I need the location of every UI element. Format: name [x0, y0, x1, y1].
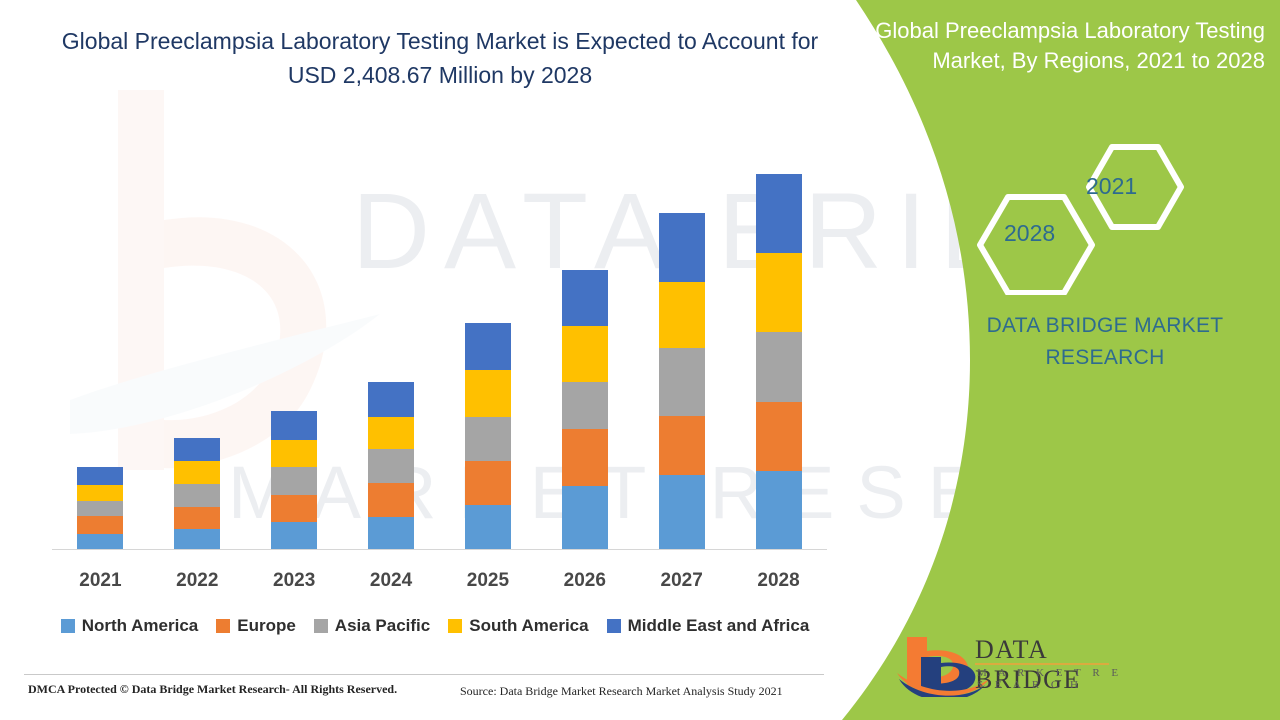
legend-label: Middle East and Africa: [628, 616, 810, 636]
bar-segment-europe: [271, 495, 317, 521]
bar-segment-middle-east-and-africa: [659, 213, 705, 281]
bar-segment-south-america: [77, 485, 123, 501]
hexagon-outlines-icon: [960, 135, 1210, 295]
bar-segment-asia-pacific: [562, 382, 608, 429]
x-axis-label-2021: 2021: [57, 570, 143, 592]
data-bridge-logo: DATA BRIDGE M A R K E T R E S E A R C H: [895, 633, 1125, 697]
bar-segment-asia-pacific: [174, 484, 220, 507]
bar-segment-middle-east-and-africa: [271, 411, 317, 439]
bar-segment-north-america: [659, 475, 705, 550]
bar-segment-europe: [465, 461, 511, 505]
stacked-bar: [756, 174, 802, 550]
legend-swatch-icon: [448, 619, 462, 633]
x-axis-label-2025: 2025: [445, 570, 531, 592]
bar-column-2028: [736, 150, 822, 550]
bar-segment-north-america: [174, 529, 220, 550]
x-axis-label-2023: 2023: [251, 570, 337, 592]
bar-segment-europe: [77, 516, 123, 534]
legend-label: North America: [82, 616, 199, 636]
panel-brand-name: DATA BRIDGE MARKET RESEARCH: [940, 310, 1270, 374]
bar-segment-middle-east-and-africa: [77, 467, 123, 485]
stacked-bar: [659, 213, 705, 550]
logo-tagline: M A R K E T R E S E A R C H: [977, 667, 1125, 691]
bar-segment-south-america: [756, 253, 802, 332]
footer-divider: [24, 674, 824, 675]
footer-copyright: DMCA Protected © Data Bridge Market Rese…: [28, 682, 397, 697]
stacked-bar-chart: [52, 150, 827, 562]
stacked-bar: [465, 323, 511, 550]
legend-swatch-icon: [607, 619, 621, 633]
x-axis-line: [52, 549, 827, 550]
legend-label: Asia Pacific: [335, 616, 430, 636]
bar-segment-europe: [174, 507, 220, 529]
x-axis-label-2022: 2022: [154, 570, 240, 592]
legend-swatch-icon: [314, 619, 328, 633]
bar-segment-south-america: [659, 282, 705, 348]
bar-segment-north-america: [465, 505, 511, 550]
bar-segment-south-america: [174, 461, 220, 484]
hexagon-badges: 2021 2028: [960, 135, 1210, 295]
bar-segment-south-america: [368, 417, 414, 449]
bar-column-2023: [251, 150, 337, 550]
x-axis-labels: 20212022202320242025202620272028: [52, 570, 827, 592]
bar-segment-middle-east-and-africa: [174, 438, 220, 460]
bar-segment-middle-east-and-africa: [756, 174, 802, 253]
bar-segment-asia-pacific: [77, 501, 123, 517]
bar-column-2027: [639, 150, 725, 550]
legend-item-north-america[interactable]: North America: [61, 616, 199, 636]
bar-segment-north-america: [271, 522, 317, 550]
legend-label: South America: [469, 616, 588, 636]
x-axis-label-2024: 2024: [348, 570, 434, 592]
bar-segment-europe: [562, 429, 608, 486]
bar-segment-asia-pacific: [659, 348, 705, 416]
legend-swatch-icon: [216, 619, 230, 633]
stacked-bar: [77, 467, 123, 550]
bar-segment-south-america: [562, 326, 608, 382]
legend-swatch-icon: [61, 619, 75, 633]
bar-segment-europe: [368, 483, 414, 518]
bar-segment-north-america: [368, 517, 414, 550]
page-title: Global Preeclampsia Laboratory Testing M…: [60, 24, 820, 92]
bar-group: [52, 150, 827, 550]
bar-segment-south-america: [271, 440, 317, 467]
bar-segment-asia-pacific: [465, 417, 511, 460]
stacked-bar: [368, 382, 414, 550]
bar-segment-middle-east-and-africa: [368, 382, 414, 418]
bar-segment-middle-east-and-africa: [562, 270, 608, 326]
bar-segment-north-america: [77, 534, 123, 550]
infographic-page: DATA BRIDGE MARKET RESEARCH Global Preec…: [0, 0, 1280, 720]
bar-segment-europe: [659, 416, 705, 475]
legend-item-asia-pacific[interactable]: Asia Pacific: [314, 616, 430, 636]
legend-item-south-america[interactable]: South America: [448, 616, 588, 636]
stacked-bar: [562, 270, 608, 550]
legend-item-middle-east-and-africa[interactable]: Middle East and Africa: [607, 616, 810, 636]
legend-item-europe[interactable]: Europe: [216, 616, 296, 636]
bar-column-2026: [542, 150, 628, 550]
stacked-bar: [174, 438, 220, 550]
x-axis-label-2028: 2028: [736, 570, 822, 592]
bar-segment-north-america: [756, 471, 802, 550]
x-axis-label-2027: 2027: [639, 570, 725, 592]
panel-title: Global Preeclampsia Laboratory Testing M…: [845, 16, 1265, 76]
chart-legend: North AmericaEuropeAsia PacificSouth Ame…: [40, 616, 830, 636]
stacked-bar: [271, 411, 317, 550]
bar-segment-north-america: [562, 486, 608, 550]
bar-segment-south-america: [465, 370, 511, 417]
bar-segment-asia-pacific: [271, 467, 317, 495]
legend-label: Europe: [237, 616, 296, 636]
bar-segment-asia-pacific: [368, 449, 414, 483]
x-axis-label-2026: 2026: [542, 570, 628, 592]
hex-label-2028: 2028: [1004, 220, 1055, 247]
bar-segment-asia-pacific: [756, 332, 802, 401]
bar-segment-europe: [756, 402, 802, 471]
bar-column-2022: [154, 150, 240, 550]
bar-column-2025: [445, 150, 531, 550]
hex-label-2021: 2021: [1086, 173, 1137, 200]
bar-column-2021: [57, 150, 143, 550]
bar-segment-middle-east-and-africa: [465, 323, 511, 370]
bar-column-2024: [348, 150, 434, 550]
footer-source: Source: Data Bridge Market Research Mark…: [460, 684, 783, 699]
